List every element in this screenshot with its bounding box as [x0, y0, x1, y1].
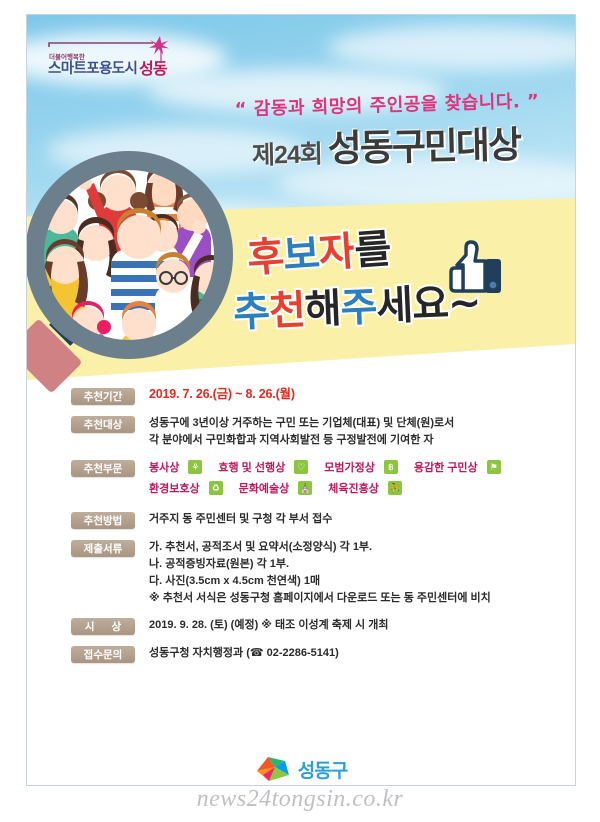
recycle-bin-icon: ♻: [209, 481, 223, 495]
row-label-contact: 접수문의: [71, 646, 135, 663]
row-label-eligibility: 추천대상: [71, 416, 135, 433]
category-label: 효행 및 선행상: [218, 459, 285, 475]
category-label: 문화예술상: [239, 480, 290, 496]
info-row-documents: 제출서류 가. 추천서, 공적조서 및 요약서(소정양식) 각 1부. 나. 공…: [71, 539, 571, 607]
row-label-ceremony: 시 상: [71, 618, 135, 635]
category-label: 용감한 구민상: [414, 459, 478, 475]
category-label: 환경보호상: [149, 480, 200, 496]
info-row-categories: 추천부문 봉사상 ⚘ 효행 및 선행상 ♡ 모범가정상 ฿: [71, 459, 571, 501]
poster-root: 더불어행복한 스마트포용도시 성동 “ 감동과 희망의 주인공을 찾습니다. ”…: [0, 0, 600, 822]
category-item: 효행 및 선행상 ♡: [218, 459, 324, 475]
row-value-documents: 가. 추천서, 공적조서 및 요약서(소정양식) 각 1부. 나. 공적증빙자료…: [149, 539, 491, 607]
footer-logo-block: 성동구: [27, 755, 575, 783]
row-value-ceremony: 2019. 9. 28. (토) (예정) ※ 태조 이성계 축제 시 개최: [149, 617, 388, 634]
heart-icon: ♡: [294, 460, 308, 474]
row-value-contact: 성동구청 자치행정과 (☎ 02-2286-5141): [149, 645, 339, 662]
brave-person-icon: ⚑: [487, 460, 501, 474]
category-label: 모범가정상: [324, 459, 375, 475]
row-label-documents: 제출서류: [71, 540, 135, 557]
title-prefix: 제24회: [252, 142, 322, 168]
running-person-icon: ⛹: [388, 481, 402, 495]
row-value-method: 거주지 동 주민센터 및 구청 각 부서 접수: [149, 511, 332, 528]
title-main: 성동구민대상: [327, 126, 520, 167]
family-icon: ฿: [384, 460, 398, 474]
volunteer-hands-icon: ⚘: [188, 460, 202, 474]
poster-frame: 더불어행복한 스마트포용도시 성동 “ 감동과 희망의 주인공을 찾습니다. ”…: [26, 14, 576, 786]
svg-text:스마트포용도시: 스마트포용도시: [48, 60, 137, 77]
category-item: 체육진흥상 ⛹: [328, 480, 418, 496]
value-line: 2019. 9. 28. (토) (예정) ※ 태조 이성계 축제 시 개최: [149, 617, 388, 634]
value-line: 성동구청 자치행정과 (☎ 02-2286-5141): [149, 645, 339, 662]
row-value-eligibility: 성동구에 3년이상 거주하는 구민 또는 기업체(대표) 및 단체(원)로서 각…: [149, 415, 454, 449]
footer-logo-text: 성동구: [298, 756, 347, 783]
value-line: 거주지 동 주민센터 및 구청 각 부서 접수: [149, 511, 332, 528]
cloud-shape: [327, 25, 576, 71]
category-item: 문화예술상 ⛪: [239, 480, 329, 496]
value-line-note: ※ 추천서 서식은 성동구청 홈페이지에서 다운로드 또는 동 주민센터에 비치: [149, 590, 491, 607]
row-value-period: 2019. 7. 26.(금) ~ 8. 26.(월): [149, 387, 295, 403]
value-line: 각 분야에서 구민화합과 지역사회발전 등 구정발전에 기여한 자: [149, 432, 454, 449]
poster-title: 제24회 성동구민대상: [197, 125, 576, 170]
category-grid: 봉사상 ⚘ 효행 및 선행상 ♡ 모범가정상 ฿ 용감한 구민상: [149, 459, 517, 501]
row-label-period: 추천기간: [71, 388, 135, 405]
category-line-2: 환경보호상 ♻ 문화예술상 ⛪ 체육진흥상 ⛹: [149, 480, 517, 496]
value-line: 2019. 7. 26.(금) ~ 8. 26.(월): [149, 387, 295, 403]
call-to-action-block: 후보자를 추천해주세요~: [223, 215, 575, 375]
magnifying-glass-with-people-illustration: [26, 143, 249, 395]
value-line: 성동구에 3년이상 거주하는 구민 또는 기업체(대표) 및 단체(원)로서: [149, 415, 454, 432]
info-row-contact: 접수문의 성동구청 자치행정과 (☎ 02-2286-5141): [71, 645, 571, 663]
category-label: 체육진흥상: [328, 480, 379, 496]
watermark: news24tongsin.co.kr: [0, 786, 600, 813]
category-line-1: 봉사상 ⚘ 효행 및 선행상 ♡ 모범가정상 ฿ 용감한 구민상: [149, 459, 517, 475]
info-row-period: 추천기간 2019. 7. 26.(금) ~ 8. 26.(월): [71, 387, 571, 405]
info-row-eligibility: 추천대상 성동구에 3년이상 거주하는 구민 또는 기업체(대표) 및 단체(원…: [71, 415, 571, 449]
value-line: 나. 공적증빙자료(원본) 각 1부.: [149, 556, 491, 573]
culture-building-icon: ⛪: [298, 481, 312, 495]
info-section: 추천기간 2019. 7. 26.(금) ~ 8. 26.(월) 추천대상 성동…: [71, 387, 571, 673]
category-item: 모범가정상 ฿: [324, 459, 414, 475]
row-label-method: 추천방법: [71, 512, 135, 529]
value-line: 다. 사진(3.5cm x 4.5cm 천연색) 1매: [149, 573, 491, 590]
category-label: 봉사상: [149, 459, 179, 475]
cta-line-2: 추천해주세요~: [232, 270, 482, 339]
svg-text:더불어행복한: 더불어행복한: [49, 52, 85, 61]
svg-text:성동: 성동: [139, 59, 168, 78]
info-row-ceremony: 시 상 2019. 9. 28. (토) (예정) ※ 태조 이성계 축제 시 …: [71, 617, 571, 635]
category-item: 환경보호상 ♻: [149, 480, 239, 496]
category-item: 봉사상 ⚘: [149, 459, 218, 475]
category-item: 용감한 구민상 ⚑: [414, 459, 517, 475]
row-label-categories: 추천부문: [71, 460, 135, 477]
value-line: 가. 추천서, 공적조서 및 요약서(소정양식) 각 1부.: [149, 539, 491, 556]
city-brand-logo: 더불어행복한 스마트포용도시 성동: [35, 33, 185, 81]
seongdong-gu-logo: [255, 755, 291, 783]
info-row-method: 추천방법 거주지 동 주민센터 및 구청 각 부서 접수: [71, 511, 571, 529]
